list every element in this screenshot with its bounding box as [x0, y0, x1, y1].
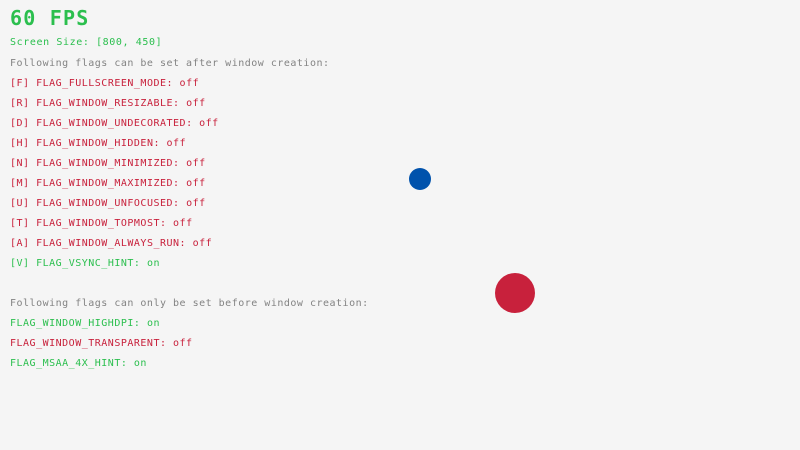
flag-keybind: [R]: [10, 98, 36, 109]
flag-value: off: [186, 98, 206, 109]
flag-row-flag-window-topmost[interactable]: [T] FLAG_WINDOW_TOPMOST: off: [10, 219, 193, 229]
flag-row-flag-window-minimized[interactable]: [N] FLAG_WINDOW_MINIMIZED: off: [10, 159, 206, 169]
flag-row-flag-window-highdpi[interactable]: FLAG_WINDOW_HIGHDPI: on: [10, 319, 160, 329]
flag-value: off: [186, 158, 206, 169]
flag-value: off: [199, 118, 219, 129]
flag-row-flag-window-unfocused[interactable]: [U] FLAG_WINDOW_UNFOCUSED: off: [10, 199, 206, 209]
flag-name: FLAG_WINDOW_UNDECORATED:: [36, 118, 199, 129]
flag-value: on: [147, 318, 160, 329]
raylib-window-flags-canvas[interactable]: 60 FPS Screen Size: [800, 450] Following…: [0, 0, 800, 450]
flag-name: FLAG_FULLSCREEN_MODE:: [36, 78, 179, 89]
flag-keybind: [N]: [10, 158, 36, 169]
flag-row-flag-window-undecorated[interactable]: [D] FLAG_WINDOW_UNDECORATED: off: [10, 119, 219, 129]
flag-row-flag-msaa-4x-hint[interactable]: FLAG_MSAA_4X_HINT: on: [10, 359, 147, 369]
flag-value: off: [186, 198, 206, 209]
flag-name: FLAG_WINDOW_TOPMOST:: [36, 218, 173, 229]
runtime-flags-header: Following flags can be set after window …: [10, 59, 330, 69]
flag-name: FLAG_WINDOW_RESIZABLE:: [36, 98, 186, 109]
flag-value: off: [173, 218, 193, 229]
flag-value: off: [173, 338, 193, 349]
screen-size-label: Screen Size: [800, 450]: [10, 38, 162, 48]
flag-row-flag-window-always-run[interactable]: [A] FLAG_WINDOW_ALWAYS_RUN: off: [10, 239, 212, 249]
flag-name: FLAG_WINDOW_HIDDEN:: [36, 138, 166, 149]
flag-name: FLAG_WINDOW_HIGHDPI:: [10, 318, 147, 329]
flag-name: FLAG_WINDOW_TRANSPARENT:: [10, 338, 173, 349]
flag-row-flag-window-transparent[interactable]: FLAG_WINDOW_TRANSPARENT: off: [10, 339, 193, 349]
flag-keybind: [H]: [10, 138, 36, 149]
flag-value: off: [180, 78, 200, 89]
flag-keybind: [D]: [10, 118, 36, 129]
flag-value: on: [134, 358, 147, 369]
flag-name: FLAG_WINDOW_ALWAYS_RUN:: [36, 238, 193, 249]
blue-ball: [409, 168, 431, 190]
flag-keybind: [A]: [10, 238, 36, 249]
flag-row-flag-window-maximized[interactable]: [M] FLAG_WINDOW_MAXIMIZED: off: [10, 179, 206, 189]
flag-row-flag-vsync-hint[interactable]: [V] FLAG_VSYNC_HINT: on: [10, 259, 160, 269]
flag-row-flag-fullscreen-mode[interactable]: [F] FLAG_FULLSCREEN_MODE: off: [10, 79, 199, 89]
flag-keybind: [F]: [10, 78, 36, 89]
flag-name: FLAG_WINDOW_MAXIMIZED:: [36, 178, 186, 189]
flag-value: on: [147, 258, 160, 269]
flag-value: off: [167, 138, 187, 149]
flag-name: FLAG_VSYNC_HINT:: [36, 258, 147, 269]
flag-keybind: [M]: [10, 178, 36, 189]
flag-name: FLAG_WINDOW_MINIMIZED:: [36, 158, 186, 169]
flag-value: off: [186, 178, 206, 189]
flag-keybind: [V]: [10, 258, 36, 269]
fps-counter: 60 FPS: [10, 8, 89, 28]
flag-value: off: [193, 238, 213, 249]
flag-name: FLAG_WINDOW_UNFOCUSED:: [36, 198, 186, 209]
flag-keybind: [T]: [10, 218, 36, 229]
flag-keybind: [U]: [10, 198, 36, 209]
creation-flags-header: Following flags can only be set before w…: [10, 299, 369, 309]
flag-row-flag-window-resizable[interactable]: [R] FLAG_WINDOW_RESIZABLE: off: [10, 99, 206, 109]
red-ball: [495, 273, 535, 313]
flag-row-flag-window-hidden[interactable]: [H] FLAG_WINDOW_HIDDEN: off: [10, 139, 186, 149]
flag-name: FLAG_MSAA_4X_HINT:: [10, 358, 134, 369]
